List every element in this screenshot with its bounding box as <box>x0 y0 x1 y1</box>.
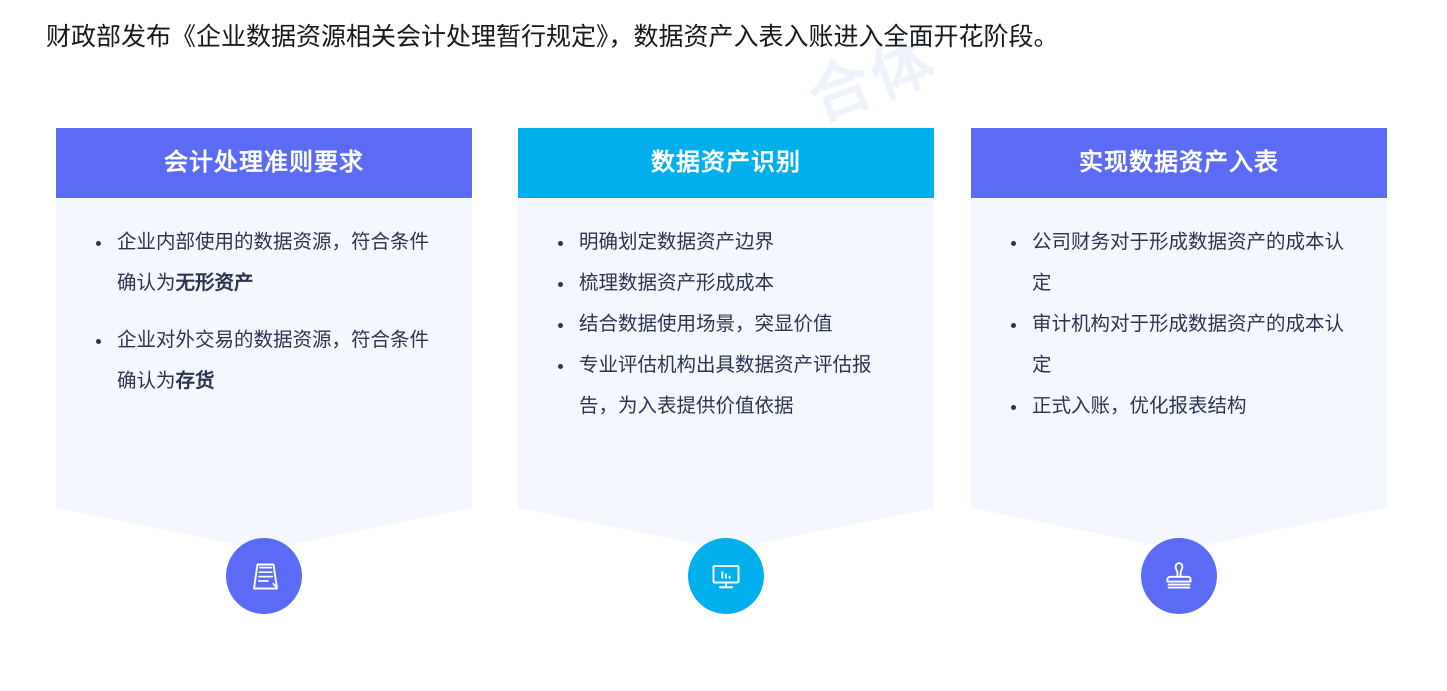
slide-canvas: 合体 数据 合体 财政部发布《企业数据资源相关会计处理暂行规定》，数据资产入表入… <box>0 0 1447 691</box>
icon-bubble-ledger <box>226 538 302 614</box>
card-header-3: 实现数据资产入表 <box>971 128 1387 198</box>
card-group: 会计处理准则要求 企业内部使用的数据资源，符合条件确认为无形资产 企业对外交易的… <box>0 128 1447 628</box>
list-item: 公司财务对于形成数据资产的成本认定 <box>1001 222 1357 304</box>
card-body-1: 企业内部使用的数据资源，符合条件确认为无形资产 企业对外交易的数据资源，符合条件… <box>56 198 472 550</box>
card-data-asset-identification: 数据资产识别 明确划定数据资产边界 梳理数据资产形成成本 结合数据使用场景，突显… <box>518 128 934 550</box>
list-item: 企业对外交易的数据资源，符合条件确认为存货 <box>86 320 442 402</box>
bullet-list-3: 公司财务对于形成数据资产的成本认定 审计机构对于形成数据资产的成本认定 正式入账… <box>1001 222 1357 427</box>
bullet-list-1: 企业内部使用的数据资源，符合条件确认为无形资产 企业对外交易的数据资源，符合条件… <box>86 222 442 402</box>
bullet-emphasis: 无形资产 <box>176 272 254 294</box>
stamp-icon <box>1158 555 1200 597</box>
monitor-bar-chart-icon <box>706 556 746 596</box>
card-data-asset-capitalization: 实现数据资产入表 公司财务对于形成数据资产的成本认定 审计机构对于形成数据资产的… <box>971 128 1387 550</box>
list-item: 正式入账，优化报表结构 <box>1001 386 1357 427</box>
list-item: 梳理数据资产形成成本 <box>548 263 904 304</box>
bullet-text: 企业内部使用的数据资源，符合条件确认为 <box>117 231 429 294</box>
list-item: 审计机构对于形成数据资产的成本认定 <box>1001 304 1357 386</box>
icon-bubble-monitor <box>688 538 764 614</box>
page-title: 财政部发布《企业数据资源相关会计处理暂行规定》，数据资产入表入账进入全面开花阶段… <box>46 19 1406 55</box>
card-header-2: 数据资产识别 <box>518 128 934 198</box>
card-accounting-standards: 会计处理准则要求 企业内部使用的数据资源，符合条件确认为无形资产 企业对外交易的… <box>56 128 472 550</box>
ledger-document-icon <box>244 556 284 596</box>
list-item: 企业内部使用的数据资源，符合条件确认为无形资产 <box>86 222 442 304</box>
card-body-3: 公司财务对于形成数据资产的成本认定 审计机构对于形成数据资产的成本认定 正式入账… <box>971 198 1387 550</box>
icon-bubble-stamp <box>1141 538 1217 614</box>
list-item: 专业评估机构出具数据资产评估报告，为入表提供价值依据 <box>548 345 904 427</box>
bullet-list-2: 明确划定数据资产边界 梳理数据资产形成成本 结合数据使用场景，突显价值 专业评估… <box>548 222 904 427</box>
list-item: 明确划定数据资产边界 <box>548 222 904 263</box>
list-item: 结合数据使用场景，突显价值 <box>548 304 904 345</box>
bullet-emphasis: 存货 <box>176 370 215 392</box>
card-header-1: 会计处理准则要求 <box>56 128 472 198</box>
bullet-text: 企业对外交易的数据资源，符合条件确认为 <box>117 329 429 392</box>
card-body-2: 明确划定数据资产边界 梳理数据资产形成成本 结合数据使用场景，突显价值 专业评估… <box>518 198 934 550</box>
